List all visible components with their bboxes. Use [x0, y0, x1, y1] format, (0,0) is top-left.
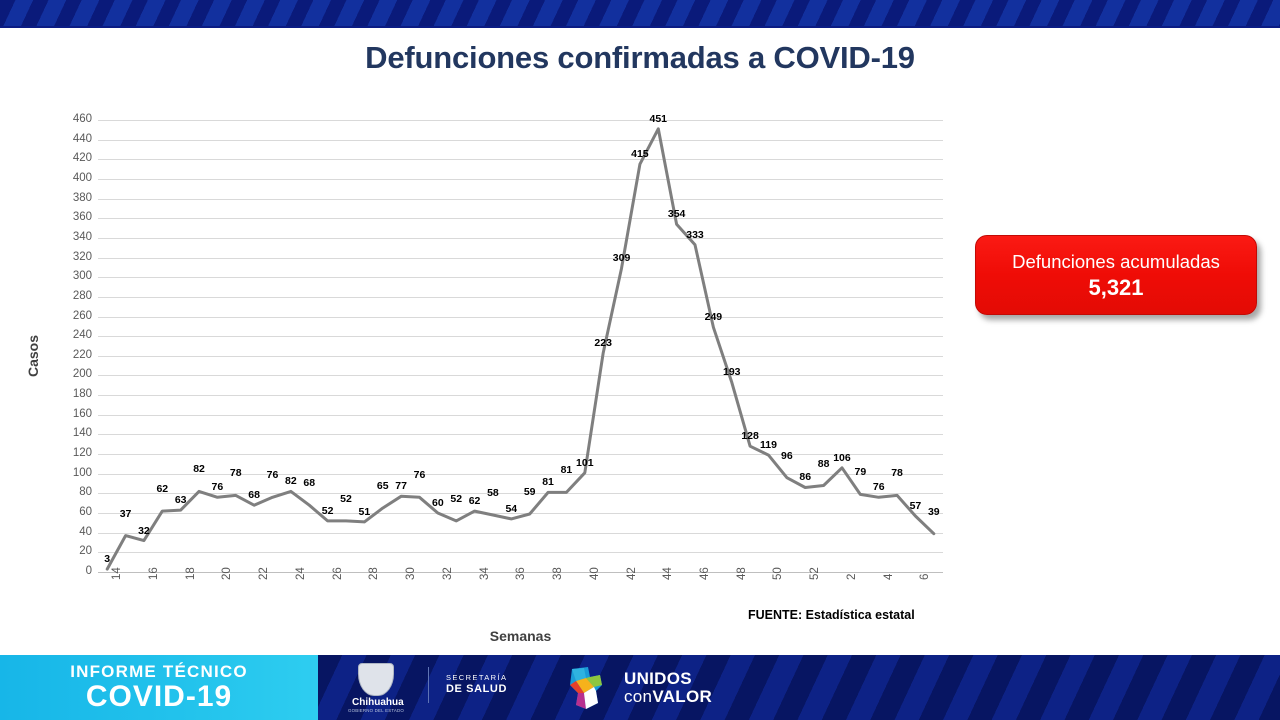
data-point-label: 415	[631, 148, 649, 160]
series-line	[107, 129, 934, 569]
callout-value: 5,321	[1088, 274, 1143, 301]
data-point-label: 32	[138, 525, 150, 537]
y-tick-label: 360	[26, 211, 92, 223]
chihuahua-map-icon	[566, 665, 618, 711]
data-point-label: 54	[505, 503, 517, 515]
y-tick-label: 400	[26, 172, 92, 184]
data-point-label: 333	[686, 229, 704, 241]
x-tick-label: 28	[368, 567, 380, 580]
data-point-label: 106	[833, 452, 851, 464]
x-tick-label: 36	[515, 567, 527, 580]
x-tick-label: 22	[258, 567, 270, 580]
data-point-label: 77	[395, 480, 407, 492]
data-point-label: 309	[613, 252, 631, 264]
data-point-label: 57	[910, 500, 922, 512]
data-point-label: 76	[873, 481, 885, 493]
data-point-label: 81	[542, 476, 554, 488]
top-striped-banner	[0, 0, 1280, 26]
secretaria-de-salud-logo: SECRETARÍA DE SALUD	[446, 673, 507, 696]
x-tick-label: 18	[185, 567, 197, 580]
data-point-label: 68	[248, 489, 260, 501]
data-point-label: 78	[891, 467, 903, 479]
secretaria-line2: DE SALUD	[446, 683, 507, 696]
x-tick-label: 52	[809, 567, 821, 580]
data-line-series	[98, 120, 943, 572]
unidos-con: con	[624, 687, 652, 706]
footer-brand-line1: INFORME TÉCNICO	[70, 662, 248, 681]
top-banner-edge	[0, 26, 1280, 28]
data-point-label: 68	[303, 477, 315, 489]
data-point-label: 81	[561, 464, 573, 476]
y-tick-label: 60	[26, 506, 92, 518]
x-axis-title: Semanas	[98, 628, 943, 644]
footer-divider	[428, 667, 429, 703]
x-tick-label: 42	[626, 567, 638, 580]
x-tick-label: 32	[442, 567, 454, 580]
data-point-label: 52	[322, 505, 334, 517]
page-title: Defunciones confirmadas a COVID-19	[0, 40, 1280, 76]
data-point-label: 51	[359, 506, 371, 518]
y-tick-label: 240	[26, 329, 92, 341]
data-point-label: 86	[799, 471, 811, 483]
data-point-label: 249	[705, 311, 723, 323]
x-tick-label: 30	[405, 567, 417, 580]
y-tick-label: 80	[26, 486, 92, 498]
y-tick-label: 100	[26, 467, 92, 479]
data-point-label: 59	[524, 486, 536, 498]
secretaria-line1: SECRETARÍA	[446, 673, 507, 683]
y-tick-label: 200	[26, 368, 92, 380]
x-tick-label: 38	[552, 567, 564, 580]
shield-body-icon	[358, 663, 394, 696]
status-badge-accumulated-deaths: Defunciones acumuladas 5,321	[975, 235, 1257, 315]
footer-brand-line2: COVID-19	[86, 681, 232, 713]
data-point-label: 52	[450, 493, 462, 505]
y-tick-label: 40	[26, 526, 92, 538]
y-tick-label: 320	[26, 251, 92, 263]
data-point-label: 119	[760, 439, 777, 451]
shield-label: Chihuahua	[352, 697, 400, 708]
x-tick-label: 40	[589, 567, 601, 580]
x-tick-label: 50	[772, 567, 784, 580]
source-note: FUENTE: Estadística estatal	[748, 607, 948, 623]
x-tick-label: 46	[699, 567, 711, 580]
y-tick-label: 160	[26, 408, 92, 420]
data-point-label: 52	[340, 493, 352, 505]
data-point-label: 88	[818, 458, 830, 470]
callout-label: Defunciones acumuladas	[1012, 250, 1220, 274]
x-tick-label: 2	[846, 574, 858, 580]
data-point-label: 63	[175, 494, 187, 506]
y-tick-label: 280	[26, 290, 92, 302]
x-tick-label: 24	[295, 567, 307, 580]
data-point-label: 128	[741, 430, 759, 442]
unidos-line2: conVALOR	[624, 688, 712, 706]
y-tick-label: 260	[26, 310, 92, 322]
data-point-label: 79	[854, 466, 866, 478]
data-point-label: 60	[432, 497, 444, 509]
data-point-label: 62	[469, 495, 481, 507]
data-point-label: 76	[414, 469, 426, 481]
plot-area: 3373262638276786876826852525165777660526…	[98, 120, 943, 572]
data-point-label: 223	[594, 337, 612, 349]
unidos-text-block: UNIDOS conVALOR	[624, 670, 712, 706]
chart-container: Casos 0204060801001201401601802002202402…	[20, 108, 950, 638]
chihuahua-shield-icon: Chihuahua GOBIERNO DEL ESTADO	[358, 663, 394, 703]
data-point-label: 37	[120, 508, 132, 520]
y-tick-label: 300	[26, 270, 92, 282]
y-tick-label: 20	[26, 545, 92, 557]
x-tick-label: 6	[919, 574, 931, 580]
footer-brand-panel: INFORME TÉCNICO COVID-19	[0, 655, 318, 720]
data-point-label: 82	[193, 463, 205, 475]
data-point-label: 354	[668, 208, 686, 220]
data-point-label: 58	[487, 487, 499, 499]
x-tick-label: 14	[111, 567, 123, 580]
y-tick-label: 380	[26, 192, 92, 204]
unidos-valor: VALOR	[652, 687, 712, 706]
footer-banner: INFORME TÉCNICO COVID-19 Chihuahua GOBIE…	[0, 655, 1280, 720]
x-tick-label: 48	[736, 567, 748, 580]
x-tick-label: 4	[883, 574, 895, 580]
y-tick-label: 420	[26, 152, 92, 164]
data-point-label: 82	[285, 475, 297, 487]
y-tick-label: 0	[26, 565, 92, 577]
y-tick-label: 140	[26, 427, 92, 439]
y-tick-label: 180	[26, 388, 92, 400]
data-point-label: 193	[723, 366, 741, 378]
data-point-label: 65	[377, 480, 389, 492]
unidos-line1: UNIDOS	[624, 670, 712, 688]
shield-sublabel: GOBIERNO DEL ESTADO	[348, 708, 404, 713]
y-tick-label: 120	[26, 447, 92, 459]
x-tick-label: 16	[148, 567, 160, 580]
y-tick-label: 340	[26, 231, 92, 243]
data-point-label: 96	[781, 450, 793, 462]
y-tick-label: 220	[26, 349, 92, 361]
data-point-label: 76	[212, 481, 224, 493]
x-tick-label: 44	[662, 567, 674, 580]
data-point-label: 3	[104, 553, 110, 565]
data-point-label: 76	[267, 469, 279, 481]
data-point-label: 62	[156, 483, 168, 495]
x-tick-label: 20	[221, 567, 233, 580]
data-point-label: 39	[928, 506, 940, 518]
data-point-label: 78	[230, 467, 242, 479]
footer-logos-panel: Chihuahua GOBIERNO DEL ESTADO SECRETARÍA…	[318, 655, 1280, 720]
x-tick-label: 26	[332, 567, 344, 580]
data-point-label: 451	[650, 113, 668, 125]
data-point-label: 101	[576, 457, 594, 469]
y-tick-label: 460	[26, 113, 92, 125]
x-tick-label: 34	[479, 567, 491, 580]
y-tick-label: 440	[26, 133, 92, 145]
y-axis-tick-labels: 0204060801001201401601802002202402602803…	[20, 120, 92, 572]
